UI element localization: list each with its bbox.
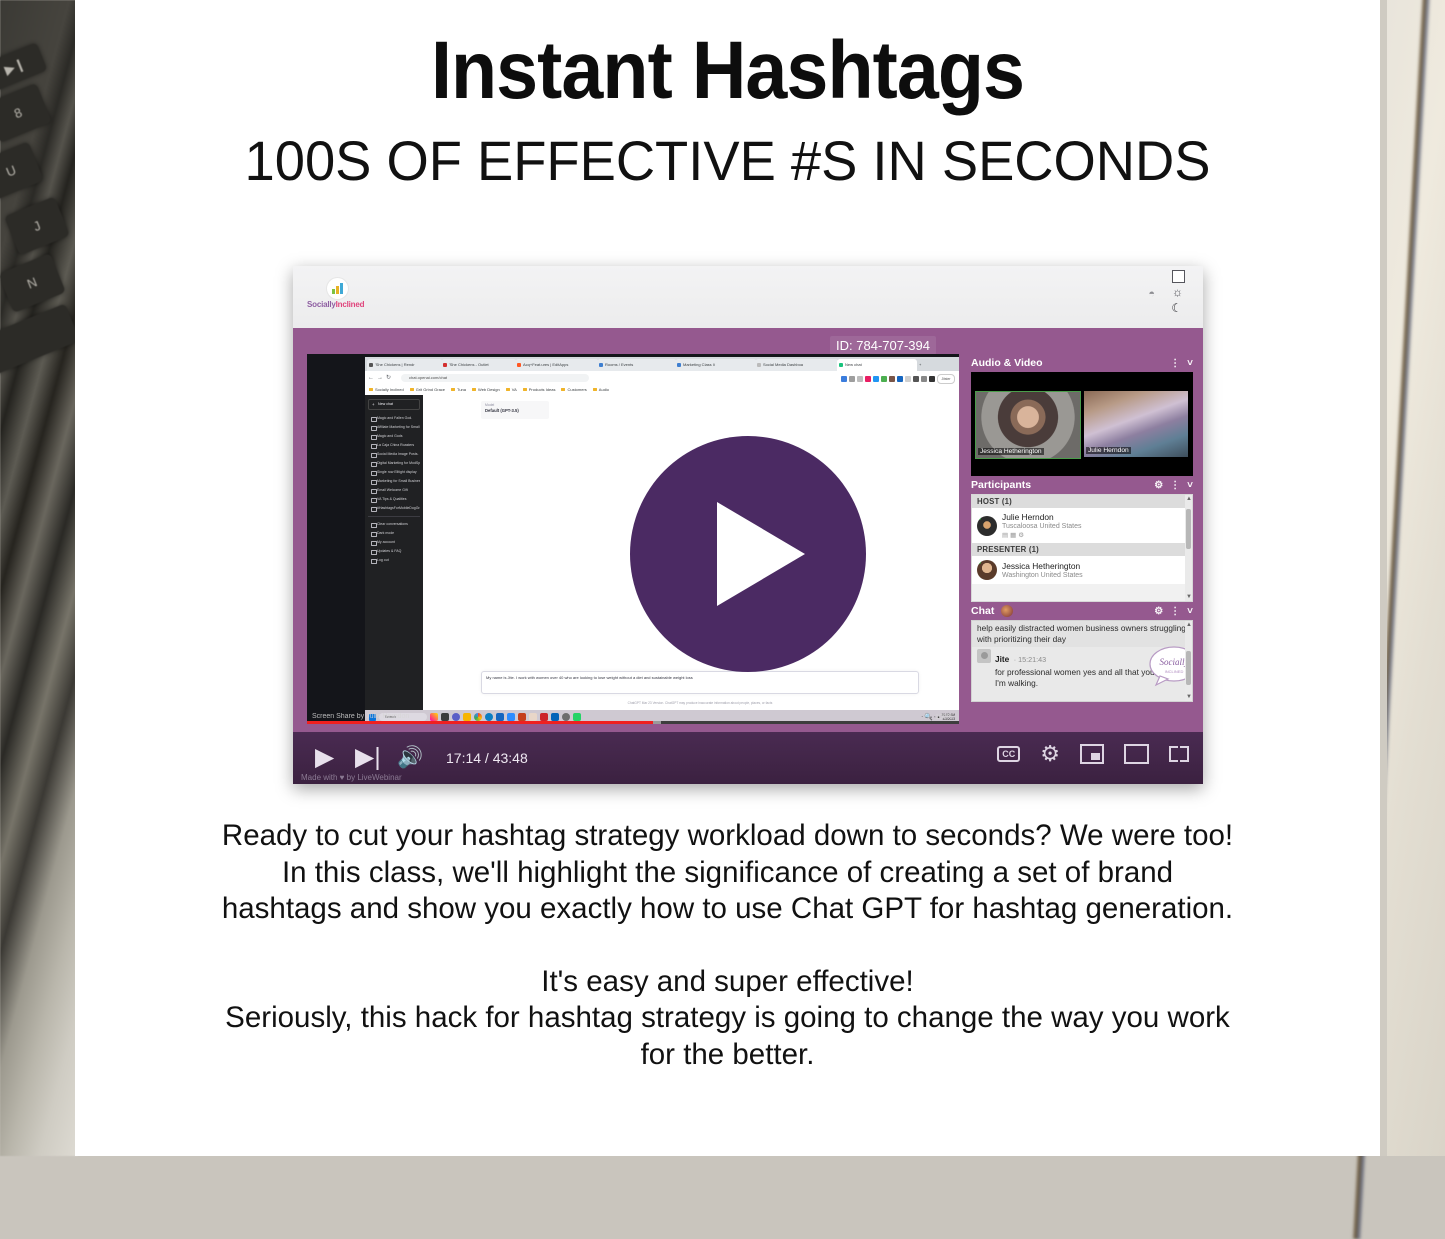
- model-selector[interactable]: Model Default (GPT-3.5): [481, 401, 549, 419]
- conversation-item[interactable]: VA Tips & Qualities: [368, 495, 420, 504]
- composer-text: My name is Jite. I work with women over …: [486, 675, 914, 682]
- desk-surface-photo: [1380, 0, 1445, 1156]
- bookmark-item[interactable]: Tuna: [451, 387, 466, 392]
- bookmark-item[interactable]: Web Design: [472, 387, 500, 392]
- copy-line: for the better.: [75, 1037, 1380, 1074]
- browser-tab[interactable]: Social Media Dashboa: [755, 359, 839, 371]
- conversation-item[interactable]: Magic and Fallen God.: [368, 414, 420, 423]
- conversation-item[interactable]: Single row Elltight display: [368, 468, 420, 477]
- livewebinar-branding: Made with ♥ by LiveWebinar: [301, 773, 402, 782]
- participant-name: Julie Herndon: [1002, 512, 1082, 522]
- chat-message: help easily distracted women business ow…: [972, 621, 1192, 647]
- keyboard-key-label: ▶❙: [0, 49, 45, 86]
- participant-row[interactable]: Jessica Hetherington Washington United S…: [972, 556, 1192, 584]
- scroll-down-icon[interactable]: ▼: [1186, 594, 1192, 600]
- copy-line: hashtags and show you exactly how to use…: [75, 891, 1380, 928]
- chat-time-value: 15:21:43: [1018, 655, 1046, 664]
- chat-scrollbar[interactable]: ▲▼: [1185, 621, 1192, 701]
- browser-tab-label: Marketing Class Ii: [683, 362, 715, 367]
- copy-spacer: [75, 928, 1380, 964]
- browser-tab-label: Rooms / Events: [605, 362, 633, 367]
- bookmark-item[interactable]: Audio: [593, 387, 609, 392]
- bookmark-item[interactable]: VA: [506, 387, 517, 392]
- chat-panel-header: Chat ⚙ ⋮ ˅: [971, 602, 1193, 620]
- sidebar-divider: [368, 516, 420, 517]
- gear-icon[interactable]: ⚙: [1154, 480, 1163, 491]
- fullscreen-icon[interactable]: [1169, 746, 1189, 762]
- scroll-down-icon[interactable]: ▼: [1186, 694, 1192, 700]
- webinar-right-rail: Audio & Video ⋮ ˅ Jessica Hetherington J…: [971, 354, 1193, 702]
- volume-icon[interactable]: 🔊: [397, 747, 423, 768]
- camera-name: Jessica Hetherington: [978, 448, 1044, 455]
- browser-tab[interactable]: 'She Chickens | Rendr: [367, 359, 443, 371]
- header-icon-group: ◓ ☼ ☾: [1133, 276, 1193, 321]
- participants-list: HOST (1) Julie Herndon Tuscaloosa United…: [971, 494, 1193, 602]
- browser-tab-label: 'She Chickens | Rendr: [375, 362, 415, 367]
- theater-icon[interactable]: [1124, 744, 1149, 764]
- next-icon[interactable]: ▶|: [355, 745, 381, 770]
- keyboard-key-label: J: [9, 209, 65, 243]
- bookmark-item[interactable]: Customers: [561, 387, 586, 392]
- camera-name: Julie Herndon: [1086, 447, 1131, 454]
- gear-icon[interactable]: ⚙: [1154, 606, 1163, 617]
- copy-line: It's easy and super effective!: [75, 964, 1380, 1001]
- extension-icon: [889, 376, 895, 382]
- share-progress-knob[interactable]: [653, 721, 661, 725]
- keyboard-key: ▶❙: [0, 42, 48, 92]
- keyboard-key: [0, 303, 80, 376]
- avatar: [977, 649, 991, 663]
- profile-chip[interactable]: Jitster: [937, 374, 955, 384]
- updates-faq-button[interactable]: Updates & FAQ: [368, 547, 420, 556]
- browser-tab[interactable]: Acq+Feat.ures | EditApps: [515, 359, 599, 371]
- dark-mode-button[interactable]: Dark mode: [368, 529, 420, 538]
- browser-tab-label: New chat: [845, 362, 862, 367]
- miniplayer-icon[interactable]: [1080, 744, 1104, 764]
- cc-icon[interactable]: CC: [997, 746, 1020, 762]
- model-label: Model: [485, 403, 545, 407]
- keyboard-key: U: [0, 141, 44, 200]
- participant-location: Washington United States: [1002, 571, 1083, 580]
- extension-icon: [857, 376, 863, 382]
- new-tab-button[interactable]: +: [917, 359, 931, 371]
- page-subtitle: 100S OF EFFECTIVE #S IN SECONDS: [95, 130, 1361, 192]
- chatgpt-composer[interactable]: My name is Jite. I work with women over …: [481, 671, 919, 694]
- chat-author: Jite: [995, 654, 1009, 664]
- browser-tab-label: 'She Chickens - Outlet: [449, 362, 489, 367]
- browser-tab[interactable]: 'She Chickens - Outlet: [441, 359, 517, 371]
- extension-icon: [881, 376, 887, 382]
- svg-text:INCLINED: INCLINED: [1165, 669, 1184, 674]
- keyboard-key: N: [0, 253, 66, 313]
- scroll-up-icon[interactable]: ▲: [1186, 622, 1192, 628]
- conversation-item[interactable]: Email Welcome Gift: [368, 486, 420, 495]
- participants-scrollbar[interactable]: ▲▼: [1185, 495, 1192, 601]
- conversation-item[interactable]: Marketing for Small Business: [368, 477, 420, 486]
- extension-icon: [873, 376, 879, 382]
- conversation-item[interactable]: #HashtagsForMobileDogGroo: [368, 504, 420, 513]
- chevron-down-icon[interactable]: ˅: [1187, 358, 1193, 369]
- bookmark-item[interactable]: Socially Inclined: [369, 387, 404, 392]
- scroll-up-icon[interactable]: ▲: [1186, 496, 1192, 502]
- browser-tab-label: Acq+Feat.ures | EditApps: [523, 362, 568, 367]
- video-controls-bar: ▶ ▶| 🔊 17:14 / 43:48 Made with ♥ by Live…: [293, 732, 1203, 784]
- browser-tab-active[interactable]: New chat: [837, 359, 917, 371]
- keyboard-key: 8: [0, 83, 52, 143]
- browser-tab[interactable]: Marketing Class Ii: [675, 359, 757, 371]
- conversation-item[interactable]: Digital Marketing for ModSp: [368, 459, 420, 468]
- time-display: 17:14 / 43:48: [446, 750, 528, 766]
- chat-avatar-icon: [1001, 605, 1013, 617]
- participants-title: Participants: [971, 479, 1031, 491]
- scrollbar-thumb[interactable]: [1186, 651, 1191, 685]
- participant-location: Tuscaloosa United States: [1002, 522, 1082, 531]
- description-copy: Ready to cut your hashtag strategy workl…: [75, 818, 1380, 1073]
- copy-line: In this class, we'll highlight the signi…: [75, 855, 1380, 892]
- participant-device-icons: ▤▦⚙: [1002, 531, 1082, 539]
- square-icon[interactable]: [1172, 270, 1185, 283]
- meeting-id: ID: 784-707-394: [830, 336, 936, 355]
- camera-tile[interactable]: Jessica Hetherington: [975, 391, 1081, 459]
- bar-chart-icon: [332, 283, 344, 294]
- screen-share-label: Screen Share by Julie Herndon: [312, 713, 409, 720]
- moon-icon[interactable]: ☾: [1171, 301, 1182, 315]
- sun-icon[interactable]: ☼: [1172, 285, 1183, 299]
- chat-title: Chat: [971, 605, 994, 617]
- copy-line: Seriously, this hack for hashtag strateg…: [75, 1000, 1380, 1037]
- chevron-down-icon[interactable]: ˅: [1187, 606, 1193, 617]
- conversation-item[interactable]: Social Media Image Posts.: [368, 450, 420, 459]
- participant-row[interactable]: Julie Herndon Tuscaloosa United States ▤…: [972, 508, 1192, 543]
- conversation-item[interactable]: Affiliate Marketing for Small B: [368, 423, 420, 432]
- participant-name: Jessica Hetherington: [1002, 561, 1083, 571]
- online-indicator: [977, 560, 981, 564]
- chevron-down-icon[interactable]: ˅: [1187, 480, 1193, 491]
- extension-icon-group[interactable]: Jitster: [841, 374, 955, 384]
- model-value: Default (GPT-3.5): [485, 408, 545, 413]
- extension-icon: [841, 376, 847, 382]
- extension-icon: [921, 376, 927, 382]
- clear-conversations-button[interactable]: Clear conversations: [368, 520, 420, 529]
- chat-messages[interactable]: help easily distracted women business ow…: [971, 620, 1193, 702]
- laptop-keyboard-photo: ▶❙ 8 U J N: [0, 0, 78, 1156]
- camera-tile[interactable]: Julie Herndon: [1084, 391, 1188, 457]
- chatgpt-disclaimer: ChatGPT Mar 23 Version. ChatGPT may prod…: [481, 701, 919, 705]
- more-options-icon[interactable]: ⋮: [1170, 358, 1180, 369]
- chatgpt-sidebar: New chat Magic and Fallen God. Affiliate…: [365, 395, 423, 710]
- page-title: Instant Hashtags: [127, 0, 1328, 114]
- tray-chevron-icon[interactable]: ^: [922, 715, 923, 719]
- extension-icon: [913, 376, 919, 382]
- log-out-button[interactable]: Log out: [368, 556, 420, 565]
- video-player[interactable]: SociallyInclined ◓ ☼ ☾ ID: 784-707-394 '…: [293, 266, 1203, 784]
- participant-section-presenter: PRESENTER (1): [972, 543, 1192, 556]
- conversation-item[interactable]: Magic and Gods: [368, 432, 420, 441]
- scrollbar-thumb[interactable]: [1186, 509, 1191, 549]
- online-indicator: [977, 516, 981, 520]
- play-icon[interactable]: ▶: [315, 745, 334, 770]
- play-button-overlay[interactable]: [630, 436, 866, 672]
- browser-tab-label: Social Media Dashboa: [763, 362, 803, 367]
- controls-right-group: CC ⚙: [997, 743, 1189, 765]
- keyboard-key-label: 8: [0, 96, 47, 131]
- webinar-app-header: SociallyInclined ◓ ☼ ☾: [293, 266, 1203, 328]
- socially-inclined-logo: SociallyInclined: [307, 278, 369, 314]
- conversation-item[interactable]: La Caja China Roasters: [368, 441, 420, 450]
- new-chat-button[interactable]: New chat: [368, 399, 420, 410]
- browser-omnibox-row: ←→↻ chat.openai.com/chat: [365, 371, 959, 384]
- wifi-icon: ◓: [1148, 288, 1155, 300]
- gear-icon[interactable]: ⚙: [1040, 743, 1060, 765]
- keyboard-key: J: [4, 196, 70, 255]
- play-icon: [717, 502, 805, 606]
- browser-nav-icons[interactable]: ←→↻: [368, 374, 394, 381]
- browser-tab[interactable]: Rooms / Events: [597, 359, 677, 371]
- more-options-icon[interactable]: ⋮: [1170, 606, 1180, 617]
- participants-panel-header: Participants ⚙ ⋮ ˅: [971, 476, 1193, 494]
- bookmark-item[interactable]: Grit Grind Grace: [410, 387, 445, 392]
- chat-timestamp: · 15:21:43: [1014, 655, 1046, 664]
- extension-icon: [929, 376, 935, 382]
- copy-line: Ready to cut your hashtag strategy workl…: [75, 818, 1380, 855]
- address-bar[interactable]: chat.openai.com/chat: [401, 374, 589, 382]
- logo-wordmark: SociallyInclined: [307, 300, 364, 309]
- browser-tabstrip: 'She Chickens | Rendr 'She Chickens - Ou…: [365, 357, 959, 371]
- extension-icon: [905, 376, 911, 382]
- extension-icon: [897, 376, 903, 382]
- extension-icon: [849, 376, 855, 382]
- video-tiles: Jessica Hetherington Julie Herndon: [971, 372, 1193, 476]
- bookmark-item[interactable]: Products Ideas: [523, 387, 556, 392]
- keyboard-key-label: U: [0, 154, 39, 188]
- participant-section-host: HOST (1): [972, 495, 1192, 508]
- keyboard-key-label: N: [3, 266, 61, 301]
- audio-video-title: Audio & Video: [971, 357, 1043, 369]
- share-progress-bar[interactable]: [307, 721, 959, 725]
- logo-word-secondary: Inclined: [336, 300, 365, 309]
- my-account-button[interactable]: My account: [368, 538, 420, 547]
- extension-icon: [865, 376, 871, 382]
- logo-word-primary: Socially: [307, 300, 336, 309]
- avatar: [977, 516, 997, 536]
- more-options-icon[interactable]: ⋮: [1170, 480, 1180, 491]
- avatar: [977, 560, 997, 580]
- audio-video-panel-header: Audio & Video ⋮ ˅: [971, 354, 1193, 372]
- share-progress-fill: [307, 721, 653, 725]
